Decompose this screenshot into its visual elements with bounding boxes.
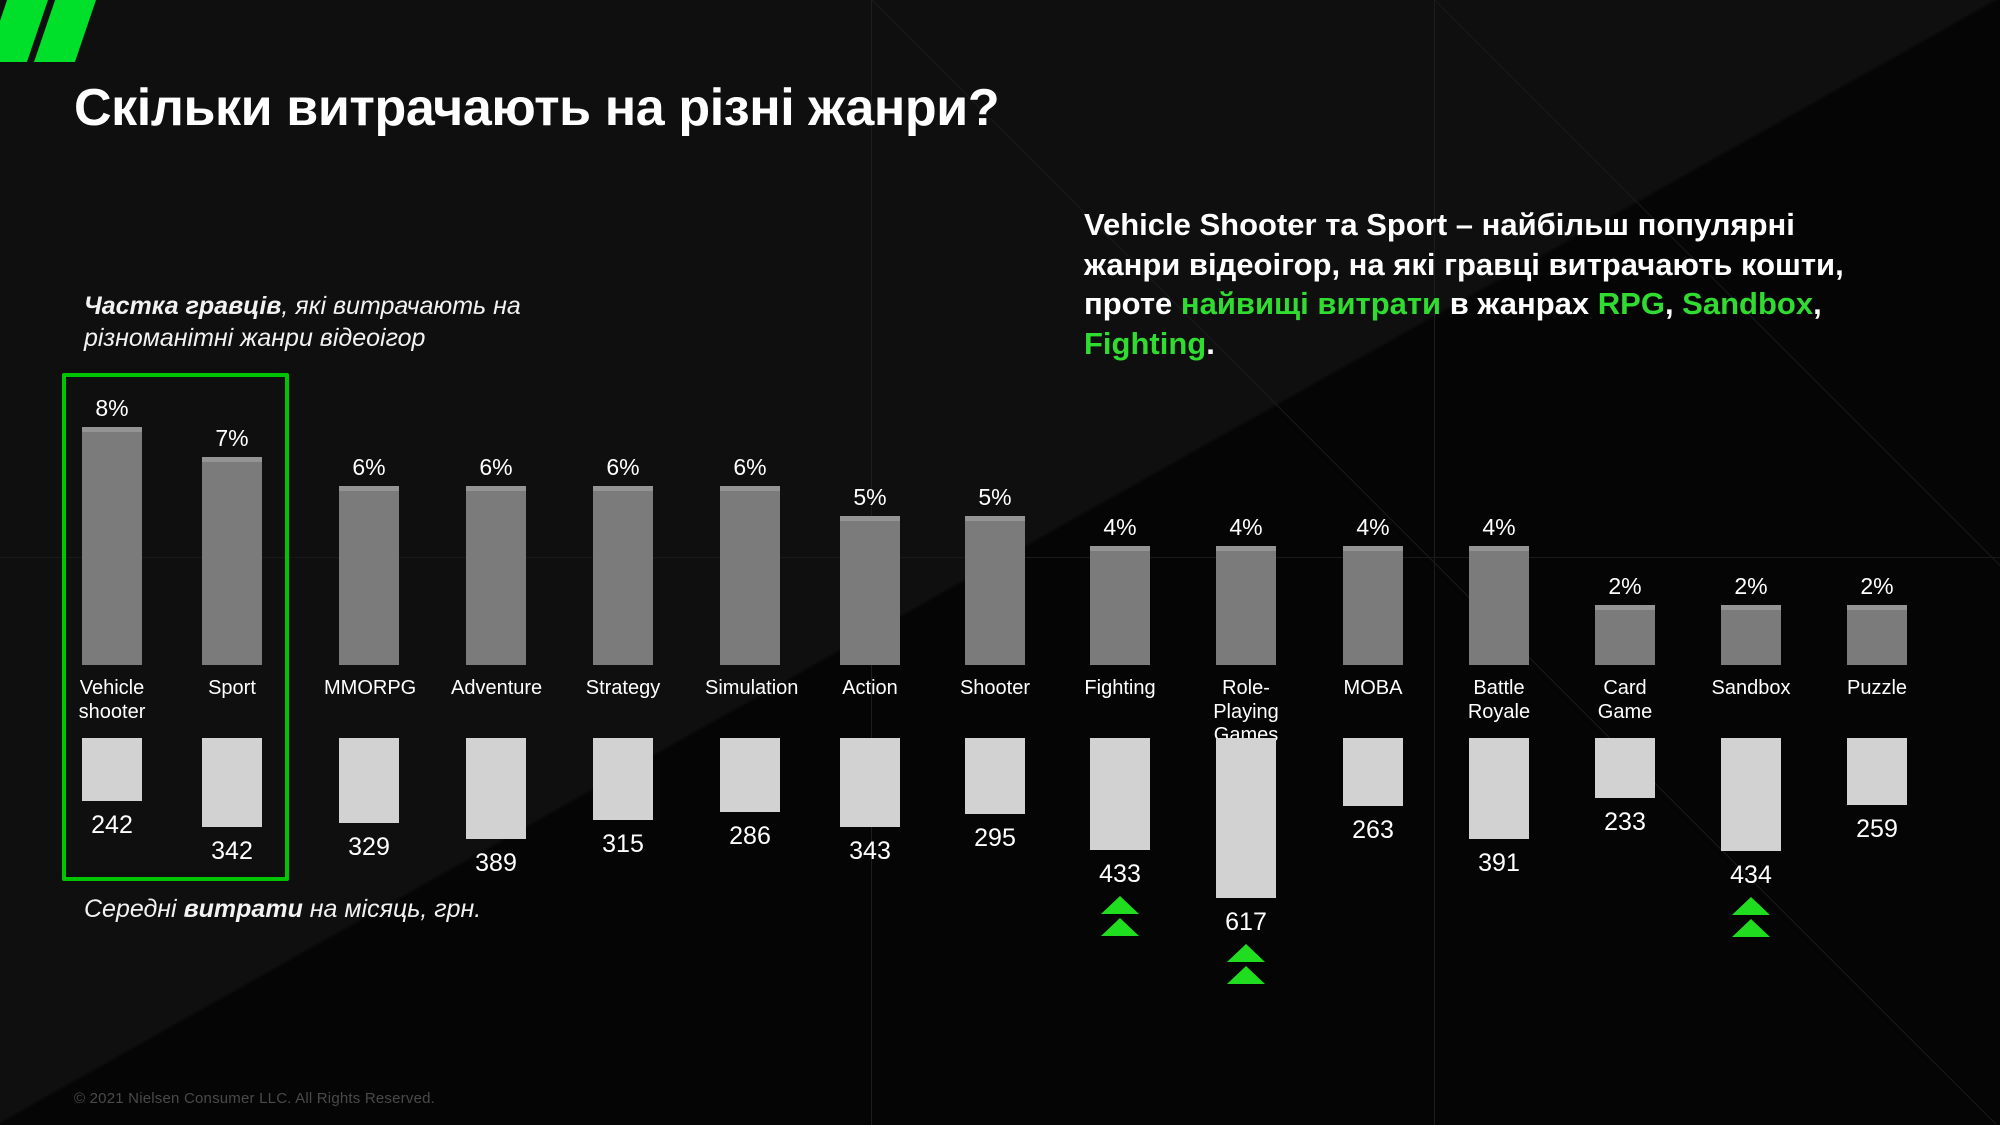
spend-bar: [1216, 738, 1276, 898]
share-bar: [1216, 546, 1276, 665]
percent-label: 4%: [1090, 514, 1150, 541]
share-bar: [1595, 605, 1655, 665]
category-label: Battle Royale: [1454, 677, 1544, 724]
category-label: Action: [825, 677, 915, 701]
percent-label: 6%: [339, 454, 399, 481]
high-spend-up-arrows-icon: [1090, 896, 1150, 940]
category-label: Puzzle: [1832, 677, 1922, 701]
average-spend-caption-post: на місяць, грн.: [303, 895, 481, 923]
spend-value-label: 329: [324, 833, 414, 862]
share-bar: [339, 486, 399, 665]
percent-label: 6%: [466, 454, 526, 481]
spend-bar: [1847, 738, 1907, 805]
category-label: Card Game: [1580, 677, 1670, 724]
spend-value-label: 259: [1832, 815, 1922, 844]
share-bar: [1847, 605, 1907, 665]
category-label: Fighting: [1075, 677, 1165, 701]
high-spend-up-arrows-icon: [1721, 897, 1781, 941]
percent-label: 4%: [1216, 514, 1276, 541]
spend-bar: [466, 738, 526, 839]
spend-value-label: 389: [451, 849, 541, 878]
infographic-canvas: Скільки витрачають на різні жанри? Частк…: [0, 0, 2000, 1125]
spend-value-label: 391: [1454, 849, 1544, 878]
percent-label: 4%: [1469, 514, 1529, 541]
arrow-up-icon: [1101, 918, 1139, 936]
copyright-footer: © 2021 Nielsen Consumer LLC. All Rights …: [74, 1090, 435, 1107]
spend-value-label: 286: [705, 822, 795, 851]
spend-value-label: 233: [1580, 808, 1670, 837]
average-spend-caption-bold: витрати: [184, 895, 303, 923]
percent-label: 2%: [1721, 573, 1781, 600]
spend-value-label: 315: [578, 830, 668, 859]
category-label: MOBA: [1328, 677, 1418, 701]
share-bar: [720, 486, 780, 665]
spend-bar: [339, 738, 399, 823]
spend-bar: [1090, 738, 1150, 850]
spend-bar: [840, 738, 900, 827]
spend-value-label: 434: [1706, 861, 1796, 890]
share-bar: [593, 486, 653, 665]
average-spend-caption: Середні витрати на місяць, грн.: [84, 895, 481, 924]
percent-label: 5%: [965, 484, 1025, 511]
spend-value-label: 433: [1075, 860, 1165, 889]
spend-value-label: 617: [1201, 908, 1291, 937]
spend-bar: [720, 738, 780, 812]
arrow-up-icon: [1732, 897, 1770, 915]
average-spend-caption-pre: Середні: [84, 895, 184, 923]
spend-value-label: 263: [1328, 816, 1418, 845]
share-bar: [840, 516, 900, 665]
percent-label: 5%: [840, 484, 900, 511]
spend-bar: [1721, 738, 1781, 851]
share-bar: [1090, 546, 1150, 665]
share-bar: [1343, 546, 1403, 665]
spend-bar: [593, 738, 653, 820]
percent-label: 2%: [1847, 573, 1907, 600]
dual-bar-chart: 8%Vehicleshooter2427%Sport3426%MMORPG329…: [0, 0, 2000, 1125]
category-label: MMORPG: [324, 677, 414, 701]
spend-value-label: 295: [950, 824, 1040, 853]
spend-value-label: 343: [825, 837, 915, 866]
arrow-up-icon: [1101, 896, 1139, 914]
share-bar: [1469, 546, 1529, 665]
arrow-up-icon: [1227, 966, 1265, 984]
highlight-frame-top-genres: [62, 373, 289, 881]
high-spend-up-arrows-icon: [1216, 944, 1276, 988]
category-label: Adventure: [451, 677, 541, 701]
percent-label: 6%: [593, 454, 653, 481]
category-label: Simulation: [705, 677, 795, 701]
category-label: Shooter: [950, 677, 1040, 701]
category-label: Sandbox: [1706, 677, 1796, 701]
percent-label: 2%: [1595, 573, 1655, 600]
share-bar: [965, 516, 1025, 665]
category-label: Strategy: [578, 677, 668, 701]
percent-label: 6%: [720, 454, 780, 481]
share-bar: [1721, 605, 1781, 665]
spend-bar: [1343, 738, 1403, 806]
percent-label: 4%: [1343, 514, 1403, 541]
arrow-up-icon: [1732, 919, 1770, 937]
spend-bar: [1595, 738, 1655, 798]
share-bar: [466, 486, 526, 665]
arrow-up-icon: [1227, 944, 1265, 962]
spend-bar: [1469, 738, 1529, 839]
spend-bar: [965, 738, 1025, 814]
